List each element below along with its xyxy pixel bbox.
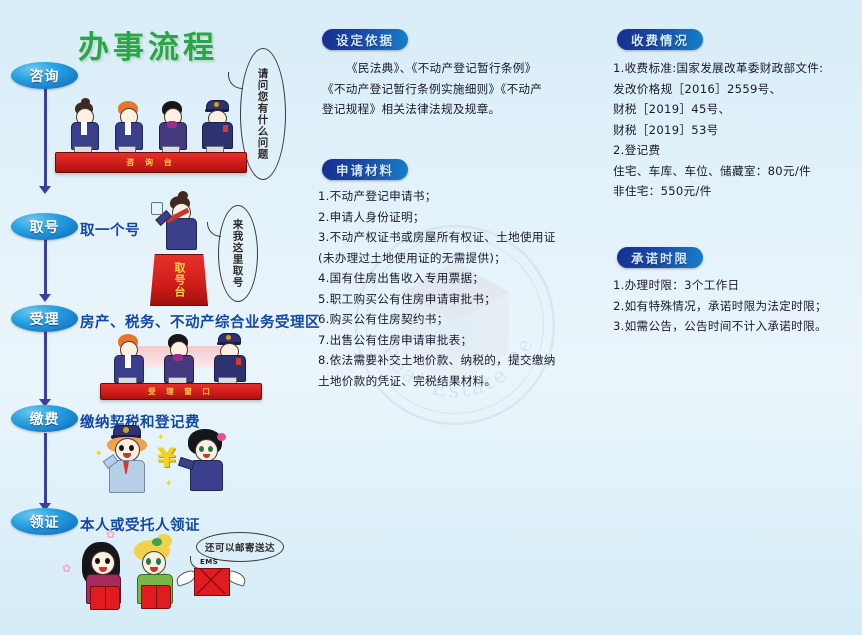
illustration-ticket-podium: 取号台: [140, 196, 216, 304]
officer-figure: [103, 425, 151, 493]
poster-canvas: Real Estate Registration 办事流程 咨询 请问您有什么问…: [0, 0, 862, 635]
material-item: 2.申请人身份证明；: [318, 207, 558, 228]
step-badge-consult[interactable]: 咨询: [11, 62, 78, 89]
staff-figure-officer: [212, 333, 246, 381]
deadline-item: 3.如需公告，公告时间不计入承诺时限。: [613, 316, 853, 337]
step-badge-payment[interactable]: 缴费: [11, 405, 78, 432]
fee-item: 2.登记费: [613, 140, 851, 161]
page-title: 办事流程: [78, 22, 218, 67]
section-heading-deadline: 承诺时限: [617, 247, 703, 268]
citizen-figure: [130, 540, 180, 604]
fee-item: 财税［2019］45号、: [613, 99, 851, 120]
flow-connector-1: [44, 88, 47, 189]
podium-ticket: 取号台: [150, 254, 208, 306]
speech-bubble-consult-tail: [228, 72, 243, 89]
material-item: 5.职工购买公有住房申请审批书；: [318, 289, 558, 310]
staff-figure: [157, 102, 187, 148]
section-heading-materials: 申请材料: [322, 159, 408, 180]
material-item: 3.不动产权证书或房屋所有权证、土地使用证(未办理过土地使用证的无需提供)；: [318, 227, 558, 268]
citizen-figure: [185, 429, 227, 491]
section-body-basis: 《民法典》、《不动产登记暂行条例》《不动产登记暂行条例实施细则》《不动产登记规程…: [322, 58, 554, 120]
section-body-materials: 1.不动产登记申请书； 2.申请人身份证明； 3.不动产权证书或房屋所有权证、土…: [318, 186, 558, 391]
ems-label: EMS: [200, 558, 218, 566]
staff-figure: [158, 196, 198, 258]
staff-figure: [162, 335, 194, 381]
staff-figure-officer: [201, 100, 233, 148]
fee-item: 1.收费标准:国家发展改革委财政部文件:: [613, 58, 851, 79]
step-badge-accept[interactable]: 受理: [11, 305, 78, 332]
step-badge-ticket[interactable]: 取号: [11, 213, 78, 240]
flow-arrow-1: [39, 186, 51, 194]
staff-figure: [113, 102, 143, 148]
staff-figure: [112, 335, 144, 381]
illustration-payment: ✦ ✦ ✦ ¥: [95, 425, 230, 495]
fee-item: 非住宅：550元/件: [613, 181, 851, 202]
staff-figure: [69, 102, 99, 148]
flow-connector-3: [44, 328, 47, 402]
fee-item: 住宅、车库、车位、储藏室：80元/件: [613, 161, 851, 182]
section-heading-basis: 设定依据: [322, 29, 408, 50]
section-heading-fees: 收费情况: [617, 29, 703, 50]
fee-item: 财税［2019］53号: [613, 120, 851, 141]
deadline-item: 2.如有特殊情况，承诺时限为法定时限；: [613, 296, 853, 317]
ems-envelope: EMS: [186, 560, 238, 600]
desk-label-consultation: 咨 询 台: [55, 152, 247, 173]
section-body-fees: 1.收费标准:国家发展改革委财政部文件: 发改价格规［2016］2559号、 财…: [613, 58, 851, 202]
desk-label-acceptance: 受 理 窗 口: [100, 383, 262, 400]
material-item: 7.出售公有住房申请审批表；: [318, 330, 558, 351]
material-item: 1.不动产登记申请书；: [318, 186, 558, 207]
illustration-certificate-pickup: ✿ ✿ ✿ EMS: [62, 528, 282, 608]
illustration-consultation-desk: 咨 询 台: [55, 95, 245, 175]
material-item: 4.国有住房出售收入专用票据；: [318, 268, 558, 289]
illustration-acceptance-counter: 受 理 窗 口: [100, 332, 260, 398]
step-desc-accept: 房产、税务、不动产综合业务受理区: [80, 311, 320, 332]
material-item: 6.购买公有住房契约书；: [318, 309, 558, 330]
material-item: 8.依法需要补交土地价款、纳税的，提交缴纳土地价款的凭证、完税结果材料。: [318, 350, 558, 391]
flow-connector-4: [44, 433, 47, 506]
fee-item: 发改价格规［2016］2559号、: [613, 79, 851, 100]
speech-bubble-ticket: 来我这里取号: [218, 205, 258, 302]
step-desc-ticket: 取一个号: [80, 219, 140, 240]
deadline-item: 1.办理时限：3个工作日: [613, 275, 853, 296]
flow-arrow-2: [39, 294, 51, 302]
podium-label: 取号台: [171, 262, 187, 298]
citizen-figure: [80, 542, 128, 604]
section-body-deadline: 1.办理时限：3个工作日 2.如有特殊情况，承诺时限为法定时限； 3.如需公告，…: [613, 275, 853, 337]
